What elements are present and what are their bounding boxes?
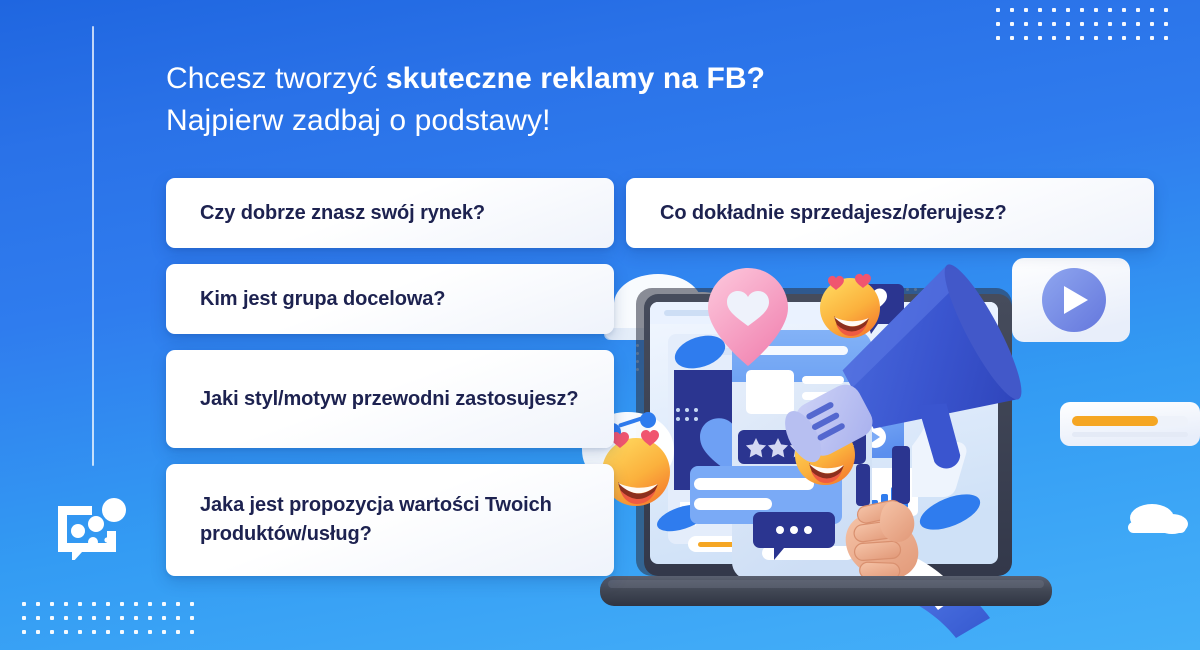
grid-dot [148,616,152,620]
grid-dot [1052,36,1056,40]
grid-dot [1052,22,1056,26]
grid-dot [1080,22,1084,26]
grid-dot [36,630,40,634]
question-card-offer[interactable]: Co dokładnie sprzedajesz/oferujesz? [626,178,1154,248]
grid-dot [50,616,54,620]
grid-dot [996,36,1000,40]
grid-dot [190,630,194,634]
page-title: Chcesz tworzyć skuteczne reklamy na FB? … [166,58,926,142]
grid-dot [1038,8,1042,12]
grid-dot [22,630,26,634]
grid-dot [134,616,138,620]
grid-dot [176,602,180,606]
laptop-social-media-megaphone-illustration [560,250,1200,650]
grid-dot [1024,8,1028,12]
grid-dot [1010,22,1014,26]
grid-dot [1164,22,1168,26]
grid-dot [78,616,82,620]
dot-grid-row [996,36,1178,50]
headline-line2: Najpierw zadbaj o podstawy! [166,100,926,142]
grid-dot [64,616,68,620]
grid-dot [176,630,180,634]
dot-grid-row [22,630,204,644]
grid-dot [36,602,40,606]
grid-dot [1136,22,1140,26]
grid-dot [120,602,124,606]
grid-dot [1038,36,1042,40]
grid-dot [1066,8,1070,12]
logo-icon [52,498,132,560]
grid-dot [92,630,96,634]
grid-dot [120,630,124,634]
grid-dot [1164,8,1168,12]
grid-dot [120,616,124,620]
dot-grid-bottom-left [22,602,204,644]
grid-dot [996,8,1000,12]
grid-dot [1080,8,1084,12]
grid-dot [134,602,138,606]
headline-line1-plain: Chcesz tworzyć [166,62,386,95]
grid-dot [1164,36,1168,40]
grid-dot [1150,22,1154,26]
grid-dot [1108,8,1112,12]
grid-dot [176,616,180,620]
grid-dot [22,602,26,606]
vertical-divider-rule [92,26,94,466]
grid-dot [92,616,96,620]
grid-dot [1010,36,1014,40]
grid-dot [36,616,40,620]
grid-dot [1150,36,1154,40]
headline-line1-bold: skuteczne reklamy na FB? [386,62,765,95]
dot-grid-row [22,616,204,630]
dot-grid-row [22,602,204,616]
grid-dot [22,616,26,620]
grid-dot [106,602,110,606]
grid-dot [1136,36,1140,40]
grid-dot [78,630,82,634]
grid-dot [1066,36,1070,40]
question-card-label: Jaki styl/motyw przewodni zastosujesz? [200,385,579,414]
grid-dot [162,602,166,606]
grid-dot [1052,8,1056,12]
grid-dot [106,616,110,620]
grid-dot [106,630,110,634]
grid-dot [1108,22,1112,26]
question-card-value[interactable]: Jaka jest propozycja wartości Twoich pro… [166,464,614,576]
grid-dot [78,602,82,606]
question-card-label: Co dokładnie sprzedajesz/oferujesz? [660,199,1007,228]
grid-dot [190,616,194,620]
dot-grid-top-right [996,8,1178,50]
question-card-style[interactable]: Jaki styl/motyw przewodni zastosujesz? [166,350,614,448]
grid-dot [64,630,68,634]
grid-dot [1122,22,1126,26]
grid-dot [134,630,138,634]
banner-canvas: Chcesz tworzyć skuteczne reklamy na FB? … [0,0,1200,650]
question-card-audience[interactable]: Kim jest grupa docelowa? [166,264,614,334]
grid-dot [92,602,96,606]
grid-dot [1024,36,1028,40]
grid-dot [162,616,166,620]
dot-grid-row [996,22,1178,36]
grid-dot [1136,8,1140,12]
grid-dot [1038,22,1042,26]
grid-dot [1122,36,1126,40]
grid-dot [1094,22,1098,26]
grid-dot [1010,8,1014,12]
question-card-market[interactable]: Czy dobrze znasz swój rynek? [166,178,614,248]
grid-dot [1094,8,1098,12]
grid-dot [190,602,194,606]
grid-dot [1080,36,1084,40]
grid-dot [50,630,54,634]
grid-dot [148,630,152,634]
grid-dot [1150,8,1154,12]
question-card-label: Jaka jest propozycja wartości Twoich pro… [200,491,580,549]
grid-dot [162,630,166,634]
grid-dot [1108,36,1112,40]
speech-bubble-bubbles-logo[interactable] [52,498,132,560]
grid-dot [148,602,152,606]
grid-dot [996,22,1000,26]
grid-dot [64,602,68,606]
grid-dot [1024,22,1028,26]
grid-dot [1122,8,1126,12]
grid-dot [50,602,54,606]
question-card-label: Kim jest grupa docelowa? [200,285,445,314]
grid-dot [1066,22,1070,26]
dot-grid-row [996,8,1178,22]
question-card-label: Czy dobrze znasz swój rynek? [200,199,485,228]
grid-dot [1094,36,1098,40]
